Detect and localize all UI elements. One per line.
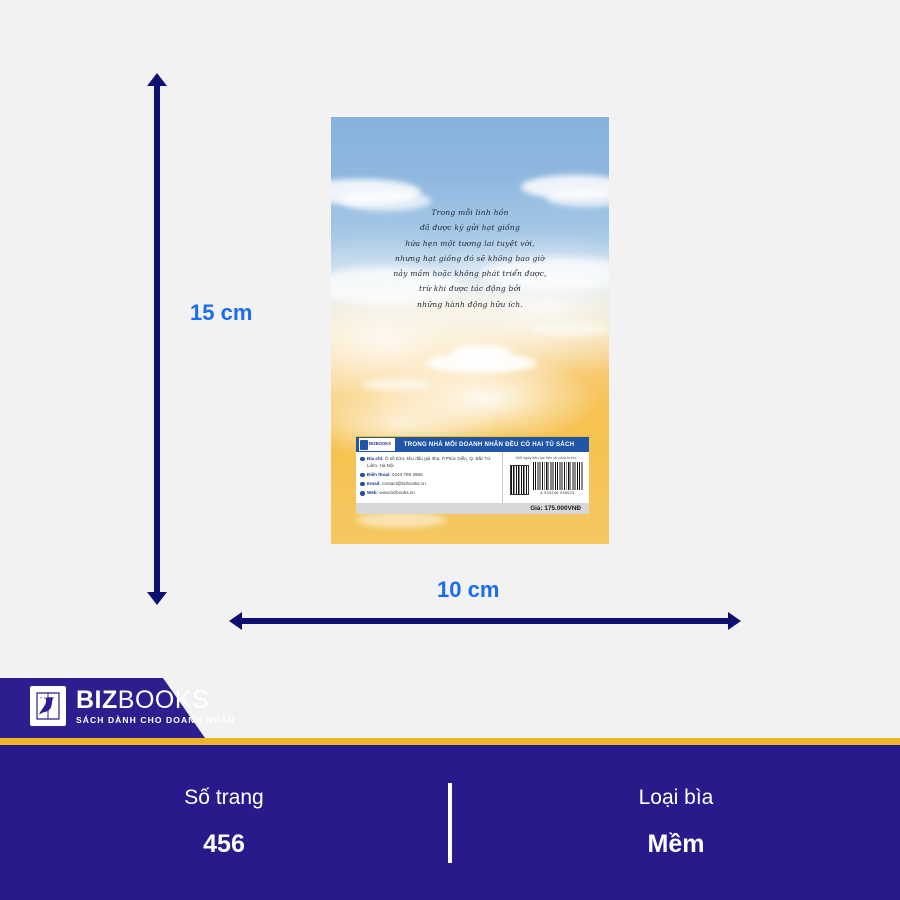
- poem-line: Trong mỗi linh hồn: [331, 205, 609, 220]
- contact-row: Địa chỉ: Ô số E34, khu đấu giá 3ha, P.Ph…: [360, 456, 499, 469]
- contact-label: Email:: [367, 481, 381, 486]
- width-dimension-label: 10 cm: [437, 577, 499, 603]
- height-dimension-line: [154, 82, 160, 594]
- brand-title-light: BOOKS: [118, 686, 209, 714]
- cloud-shape: [361, 379, 431, 391]
- contact-row: Email: contact@bizbooks.vn: [360, 481, 499, 488]
- publisher-barcode-area: 365 ngày liên tục tiến về phía trước 8 9…: [503, 452, 589, 503]
- contact-label: Web:: [367, 490, 378, 495]
- contact-value: 0243 789 2666: [391, 472, 423, 477]
- brand-title-bold: BIZ: [76, 686, 118, 714]
- gold-divider-bar: [0, 738, 900, 745]
- publisher-info-block: BIZBOOKS TRONG NHÀ MỖI DOANH NHÂN ĐỀU CÓ…: [356, 436, 589, 514]
- barcode-digits: 8 933246 936023: [541, 491, 575, 495]
- phone-icon: [360, 473, 365, 478]
- publisher-slogan: TRONG NHÀ MỖI DOANH NHÂN ĐỀU CÓ HAI TỦ S…: [395, 441, 589, 448]
- contact-row: Web: www.bizbooks.vn: [360, 490, 499, 497]
- spec-value: Mềm: [648, 830, 705, 859]
- book-icon: [360, 440, 368, 450]
- spec-value: 456: [203, 830, 245, 859]
- height-arrow-head-bottom: [147, 592, 167, 605]
- poem-line: trừ khi được tác động bởi: [331, 281, 609, 296]
- spec-footer: Số trang 456 Loại bìa Mềm: [0, 745, 900, 900]
- width-dimension-line: [240, 618, 732, 624]
- cloud-shape: [356, 512, 446, 528]
- publisher-body: Địa chỉ: Ô số E34, khu đấu giá 3ha, P.Ph…: [356, 452, 589, 503]
- spec-label: Loại bìa: [639, 786, 714, 810]
- spec-page-count: Số trang 456: [0, 745, 448, 900]
- poem-line: đã được ký gửi hạt giống: [331, 220, 609, 235]
- barcode-icon: [533, 462, 583, 490]
- contact-value: www.bizbooks.vn: [378, 490, 415, 495]
- publisher-contact-list: Địa chỉ: Ô số E34, khu đấu giá 3ha, P.Ph…: [356, 452, 503, 503]
- barcode-row: 8 933246 936023: [510, 462, 583, 495]
- book-back-cover-image: Trong mỗi linh hồn đã được ký gửi hạt gi…: [331, 117, 609, 544]
- poem-line: nhưng hạt giống đó sẽ không bao giờ: [331, 251, 609, 266]
- brand-title: BIZBOOKS: [76, 688, 235, 713]
- contact-value: Ô số E34, khu đấu giá 3ha, P.Phúc Diễn, …: [367, 456, 490, 468]
- book-emblem-icon: [33, 689, 63, 723]
- contact-value: contact@bizbooks.vn: [381, 481, 426, 486]
- bizbooks-book-icon: [30, 686, 66, 726]
- book-price: Giá: 175.000VNĐ: [356, 503, 589, 515]
- brand-banner: BIZBOOKS SÁCH DÀNH CHO DOANH NHÂN: [0, 678, 900, 738]
- width-arrow-head-right: [728, 612, 741, 630]
- publisher-logo-text: BIZBOOKS: [369, 442, 391, 446]
- spec-label: Số trang: [184, 786, 263, 810]
- qr-code-icon: [510, 465, 529, 495]
- brand-tagline: SÁCH DÀNH CHO DOANH NHÂN: [76, 715, 235, 725]
- cloud-shape: [531, 322, 609, 336]
- poem-line: những hành động hữu ích.: [331, 297, 609, 312]
- cover-poem: Trong mỗi linh hồn đã được ký gửi hạt gi…: [331, 205, 609, 312]
- brand-text: BIZBOOKS SÁCH DÀNH CHO DOANH NHÂN: [76, 688, 235, 725]
- contact-label: Địa chỉ:: [367, 456, 384, 461]
- poem-line: hứa hẹn một tương lai tuyệt vời,: [331, 236, 609, 251]
- spec-cover-type: Loại bìa Mềm: [452, 745, 900, 900]
- contact-label: Điện thoại:: [367, 472, 391, 477]
- location-icon: [360, 457, 365, 462]
- barcode-group: 8 933246 936023: [533, 462, 583, 495]
- email-icon: [360, 482, 365, 487]
- globe-icon: [360, 491, 365, 496]
- poem-line: nảy mầm hoặc không phát triển được,: [331, 266, 609, 281]
- brand-lockup: BIZBOOKS SÁCH DÀNH CHO DOANH NHÂN: [30, 686, 235, 726]
- height-dimension-label: 15 cm: [190, 300, 252, 326]
- cloud-shape: [451, 345, 511, 361]
- contact-row: Điện thoại: 0243 789 2666: [360, 472, 499, 479]
- publisher-logo: BIZBOOKS: [359, 438, 395, 451]
- publisher-header-bar: BIZBOOKS TRONG NHÀ MỖI DOANH NHÂN ĐỀU CÓ…: [356, 436, 589, 452]
- barcode-note: 365 ngày liên tục tiến về phía trước: [515, 455, 576, 460]
